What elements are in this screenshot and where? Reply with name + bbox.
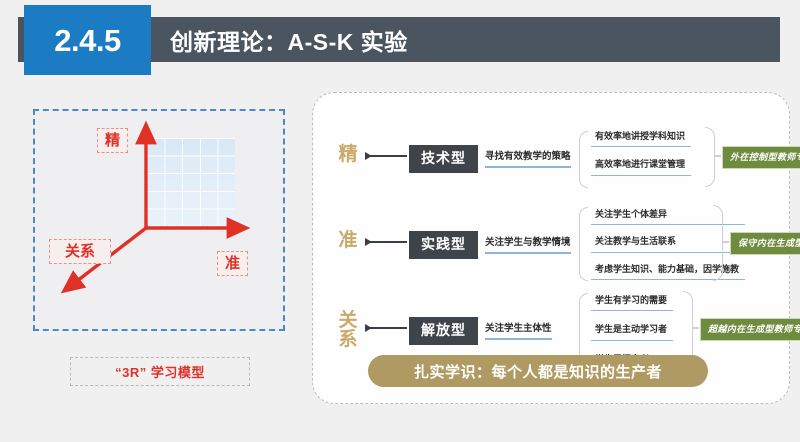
sub-stack-brace-right	[705, 127, 715, 187]
diagram-row-practical: 准 实践型 关注学生与教学情境 关注学生个体差异 关注教学与生活联系 考虑学生知…	[313, 205, 791, 283]
row-axis-word: 关系	[333, 311, 363, 350]
badge-connector	[715, 155, 721, 157]
row-arrow-head	[365, 152, 372, 160]
three-r-model-panel: 精 准 关系	[33, 109, 285, 331]
row-axis-word: 精	[333, 145, 363, 164]
badge-connector	[723, 241, 729, 243]
axes-diagram: 精 准 关系	[35, 111, 283, 329]
mid-label-technical: 寻找有效教学的策略	[485, 151, 571, 168]
row-axis-word: 准	[333, 231, 363, 250]
slide-header: 2.4.5 创新理论：A-S-K 实验	[0, 0, 800, 80]
sub-stack-brace-left	[579, 207, 588, 281]
type-box-practical: 实践型	[409, 231, 478, 259]
type-box-liberating: 解放型	[409, 317, 478, 345]
bottom-banner: 扎实学识：每个人都是知识的生产者	[368, 355, 708, 387]
sub-item: 高效率地进行课堂管理	[591, 155, 691, 175]
sub-stack-brace-left	[579, 131, 588, 188]
row-arrow-line	[369, 155, 407, 157]
sub-stack-brace-right	[713, 205, 723, 281]
type-box-technical: 技术型	[409, 145, 478, 173]
mid-label-practical: 关注学生与教学情境	[485, 237, 571, 254]
section-number-badge: 2.4.5	[24, 5, 151, 75]
sub-item: 学生是主动学习者	[591, 320, 673, 340]
row-arrow-head	[365, 238, 372, 246]
row-arrow-line	[369, 327, 407, 329]
sub-item: 学生有学习的需要	[591, 291, 673, 311]
outcome-badge-practical: 保守内在生成型教师专业成长	[730, 232, 800, 255]
page-title: 创新理论：A-S-K 实验	[170, 17, 408, 62]
row-arrow-head	[365, 324, 372, 332]
row-arrow-line	[369, 241, 407, 243]
model-caption: “3R” 学习模型	[70, 357, 250, 386]
section-number-text: 2.4.5	[54, 25, 120, 56]
diagram-row-technical: 精 技术型 寻找有效教学的策略 有效率地讲授学科知识 高效率地进行课堂管理 外在…	[313, 125, 791, 195]
axis-label-vertical: 精	[97, 128, 128, 153]
badge-connector	[693, 327, 699, 329]
sub-stack-technical: 有效率地讲授学科知识 高效率地进行课堂管理	[591, 127, 691, 176]
sub-item: 有效率地讲授学科知识	[591, 127, 691, 147]
axis-label-depth: 关系	[49, 239, 111, 264]
axes-svg	[35, 111, 283, 329]
outcome-badge-technical: 外在控制型教师专业成长	[722, 146, 800, 169]
outcome-badge-liberating: 超越内在生成型教师专业成长	[700, 318, 800, 341]
mid-label-liberating: 关注学生主体性	[485, 323, 552, 340]
ask-diagram-panel: 精 技术型 寻找有效教学的策略 有效率地讲授学科知识 高效率地进行课堂管理 外在…	[312, 92, 790, 404]
axis-label-horizontal: 准	[217, 251, 248, 276]
